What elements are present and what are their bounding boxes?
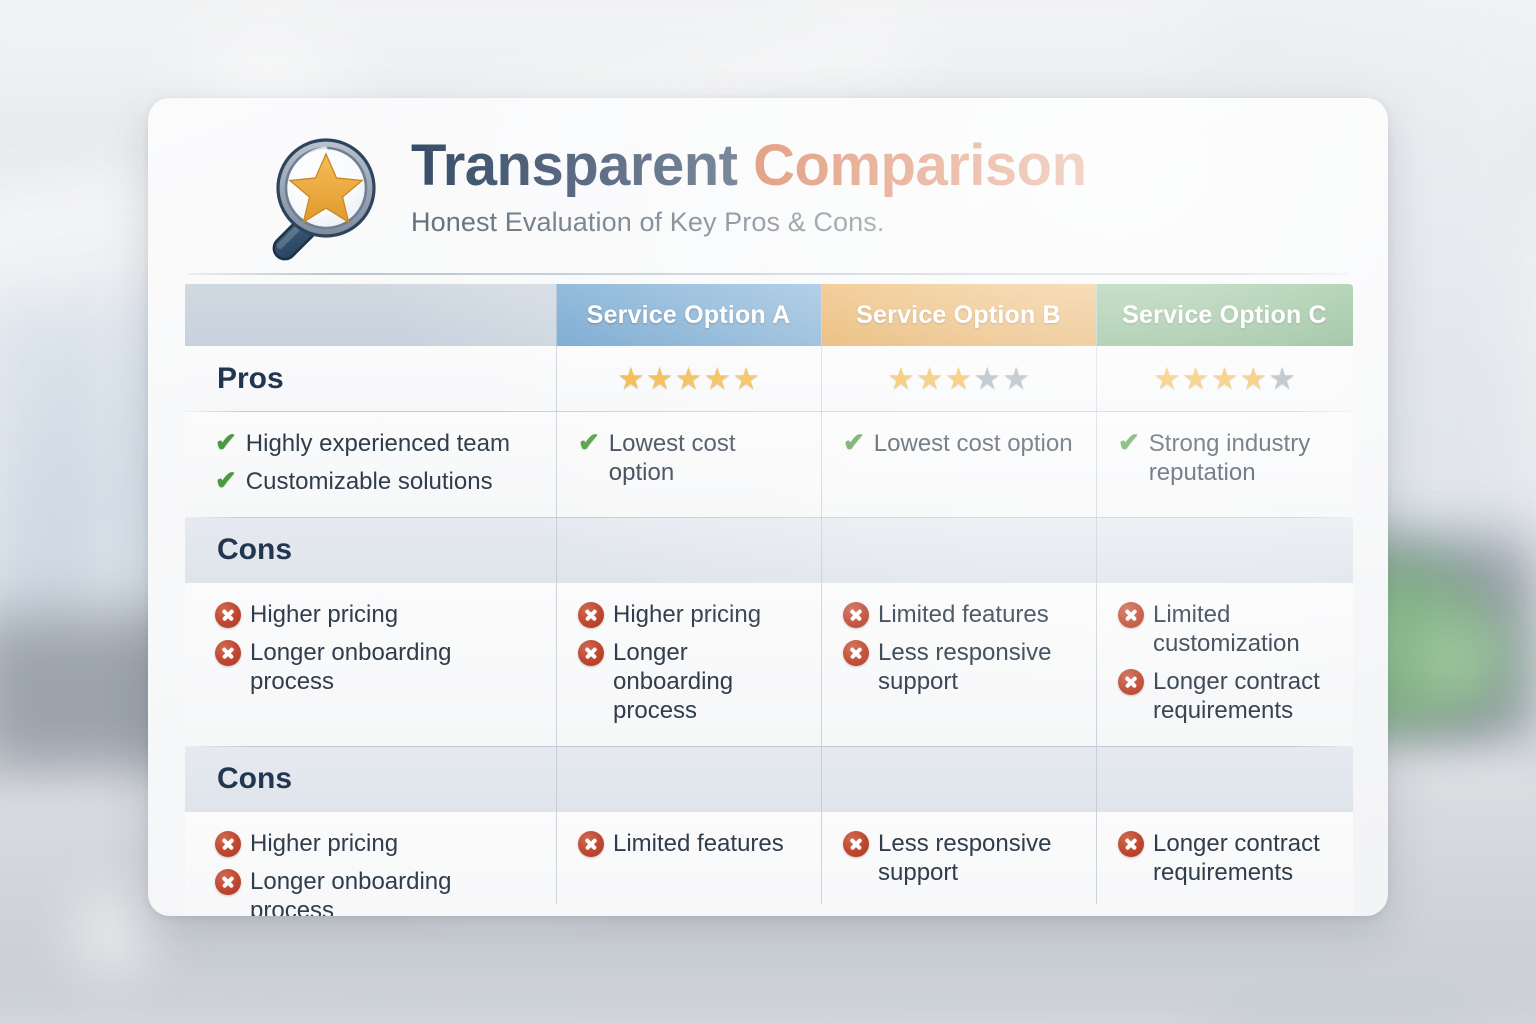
pros-cell-criteria: ✔ Highly experienced team ✔ Customizable… — [185, 412, 556, 517]
column-header-label: Service Option B — [821, 284, 1096, 346]
cross-circle-icon — [215, 831, 241, 857]
rating-cell-option-a: ★ ★ ★ ★ ★ — [556, 346, 821, 411]
page-subtitle: Honest Evaluation of Key Pros & Cons. — [411, 207, 1087, 238]
rating-cell-option-b: ★ ★ ★ ★ ★ — [821, 346, 1096, 411]
list-item: Longer onboarding process — [578, 637, 807, 726]
cons-cell-option-b: Limited features Less responsive support — [821, 583, 1096, 746]
star-icon: ★ — [1153, 363, 1181, 394]
cross-circle-icon — [578, 831, 604, 857]
header-cell-blank — [185, 284, 556, 346]
page-title: Transparent Comparison — [411, 136, 1087, 197]
star-icon: ★ — [1239, 363, 1267, 394]
list-item: Longer contract requirements — [1118, 828, 1339, 888]
pros-cell-option-a: ✔ Lowest cost option — [556, 412, 821, 517]
cross-circle-icon — [215, 602, 241, 628]
list-item-label: Lowest cost option — [874, 428, 1073, 458]
star-icon: ★ — [1182, 363, 1210, 394]
cons2-cell-option-a: Limited features — [556, 812, 821, 916]
magnifier-star-icon — [253, 126, 393, 276]
star-icon-empty: ★ — [1002, 363, 1030, 394]
cons2-cell-option-c: Longer contract requirements — [1096, 812, 1353, 916]
list-item-label: Less responsive support — [878, 828, 1082, 888]
list-item-label: Higher pricing — [250, 828, 398, 858]
check-icon: ✔ — [578, 428, 600, 457]
table-row: ✔ Highly experienced team ✔ Customizable… — [185, 412, 1353, 517]
list-item: Limited features — [578, 828, 807, 858]
section-header-spacer — [1096, 747, 1353, 812]
list-item: ✔ Lowest cost option — [843, 428, 1082, 458]
list-item-label: Longer onboarding process — [250, 637, 542, 697]
card-header: Transparent Comparison Honest Evaluation… — [188, 118, 1348, 273]
list-item-label: Longer onboarding process — [613, 637, 807, 726]
cross-circle-icon — [843, 602, 869, 628]
cons2-cell-option-b: Less responsive support — [821, 812, 1096, 916]
check-icon: ✔ — [215, 428, 237, 457]
star-icon: ★ — [916, 363, 944, 394]
table-row: Higher pricing Longer onboarding process… — [185, 583, 1353, 746]
list-item-label: Customizable solutions — [246, 466, 493, 496]
section-label-cell: Cons — [185, 747, 556, 812]
section-label-cell: Pros — [185, 346, 556, 411]
list-item-label: Strong industry reputation — [1149, 428, 1339, 488]
star-icon: ★ — [675, 363, 703, 394]
star-icon: ★ — [1211, 363, 1239, 394]
section-header-spacer — [821, 747, 1096, 812]
title-block: Transparent Comparison Honest Evaluation… — [411, 118, 1087, 238]
section-header-spacer — [556, 518, 821, 583]
cons-cell-option-a: Higher pricing Longer onboarding process — [556, 583, 821, 746]
column-header-option-c[interactable]: Service Option C — [1096, 284, 1353, 346]
section-header-spacer — [556, 747, 821, 812]
check-icon: ✔ — [215, 466, 237, 495]
column-header-option-a[interactable]: Service Option A — [556, 284, 821, 346]
star-icon-empty: ★ — [1268, 363, 1296, 394]
page-title-accent: Comparison — [753, 133, 1086, 198]
list-item-label: Higher pricing — [613, 599, 761, 629]
star-icon: ★ — [945, 363, 973, 394]
list-item: Limited customization — [1118, 599, 1339, 659]
header-divider — [188, 273, 1348, 275]
list-item: Limited features — [843, 599, 1082, 629]
list-item: Longer onboarding process — [215, 866, 542, 916]
list-item-label: Longer onboarding process — [250, 866, 542, 916]
section-header-spacer — [821, 518, 1096, 583]
cross-circle-icon — [1118, 669, 1144, 695]
list-item-label: Longer contract requirements — [1153, 666, 1339, 726]
column-header-label: Service Option A — [556, 284, 821, 346]
cross-circle-icon — [1118, 602, 1144, 628]
list-item: ✔ Strong industry reputation — [1118, 428, 1339, 488]
star-icon: ★ — [732, 363, 760, 394]
star-rating: ★ ★ ★ ★ ★ — [556, 363, 821, 394]
list-item: Longer contract requirements — [1118, 666, 1339, 726]
column-header-label: Service Option C — [1096, 284, 1353, 346]
pros-cell-option-c: ✔ Strong industry reputation — [1096, 412, 1353, 517]
star-rating: ★ ★ ★ ★ ★ — [1096, 363, 1353, 394]
table-row: Higher pricing Longer onboarding process… — [185, 812, 1353, 916]
table-header-row: Service Option A Service Option B Servic… — [185, 284, 1353, 346]
star-icon: ★ — [617, 363, 645, 394]
page-title-primary: Transparent — [411, 133, 738, 198]
cross-circle-icon — [1118, 831, 1144, 857]
list-item-label: Limited features — [613, 828, 784, 858]
check-icon: ✔ — [1118, 428, 1140, 457]
list-item: ✔ Customizable solutions — [215, 466, 542, 496]
cross-circle-icon — [215, 640, 241, 666]
list-item: Longer onboarding process — [215, 637, 542, 697]
comparison-table: Service Option A Service Option B Servic… — [185, 284, 1353, 916]
section-title: Cons — [185, 762, 292, 796]
section-title: Pros — [185, 362, 284, 396]
star-icon-empty: ★ — [973, 363, 1001, 394]
cross-circle-icon — [215, 869, 241, 895]
list-item: ✔ Lowest cost option — [578, 428, 807, 488]
section-header-spacer — [1096, 518, 1353, 583]
list-item: ✔ Highly experienced team — [215, 428, 542, 458]
cons-cell-option-c: Limited customization Longer contract re… — [1096, 583, 1353, 746]
cross-circle-icon — [843, 640, 869, 666]
column-header-option-b[interactable]: Service Option B — [821, 284, 1096, 346]
cross-circle-icon — [578, 602, 604, 628]
section-header-pros: Pros ★ ★ ★ ★ ★ ★ ★ ★ ★ ★ — [185, 346, 1353, 411]
star-icon: ★ — [887, 363, 915, 394]
cross-circle-icon — [578, 640, 604, 666]
star-icon: ★ — [646, 363, 674, 394]
list-item: Higher pricing — [215, 828, 542, 858]
cross-circle-icon — [843, 831, 869, 857]
list-item-label: Limited customization — [1153, 599, 1339, 659]
list-item-label: Lowest cost option — [609, 428, 807, 488]
section-label-cell: Cons — [185, 518, 556, 583]
list-item: Less responsive support — [843, 828, 1082, 888]
cons2-cell-criteria: Higher pricing Longer onboarding process — [185, 812, 556, 916]
list-item-label: Less responsive support — [878, 637, 1082, 697]
section-title: Cons — [185, 533, 292, 567]
pros-cell-option-b: ✔ Lowest cost option — [821, 412, 1096, 517]
rating-cell-option-c: ★ ★ ★ ★ ★ — [1096, 346, 1353, 411]
list-item-label: Limited features — [878, 599, 1049, 629]
comparison-card: Transparent Comparison Honest Evaluation… — [148, 98, 1388, 916]
plant-blur-2 — [1394, 600, 1514, 720]
list-item: Higher pricing — [578, 599, 807, 629]
list-item: Higher pricing — [215, 599, 542, 629]
cons-cell-criteria: Higher pricing Longer onboarding process — [185, 583, 556, 746]
list-item-label: Highly experienced team — [246, 428, 510, 458]
check-icon: ✔ — [843, 428, 865, 457]
list-item: Less responsive support — [843, 637, 1082, 697]
star-icon: ★ — [703, 363, 731, 394]
section-header-cons-1: Cons — [185, 518, 1353, 583]
cup-blur — [85, 900, 137, 970]
section-header-cons-2: Cons — [185, 747, 1353, 812]
list-item-label: Higher pricing — [250, 599, 398, 629]
list-item-label: Longer contract requirements — [1153, 828, 1339, 888]
star-rating: ★ ★ ★ ★ ★ — [821, 363, 1096, 394]
